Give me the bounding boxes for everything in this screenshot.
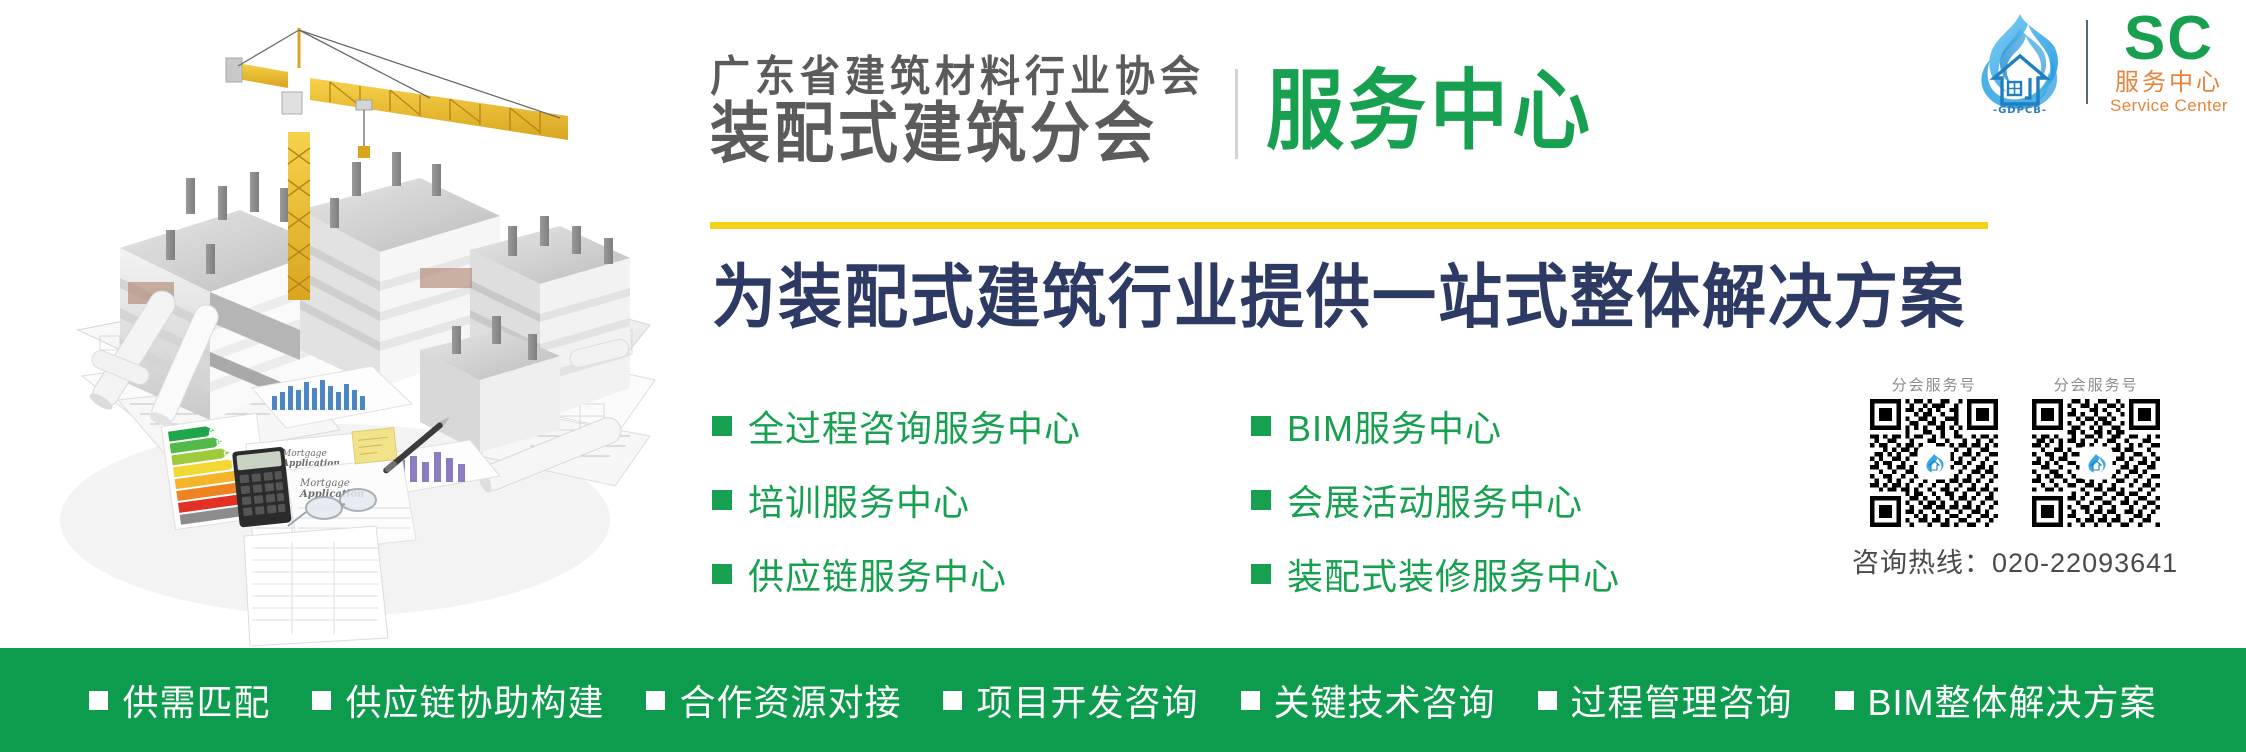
service-item-label: 供应链服务中心 [748,548,1007,600]
svg-text:Mortgage: Mortgage [281,449,327,459]
footer-item-supply-demand-matching[interactable]: 供需匹配 [89,674,270,726]
footer-item-label: 项目开发咨询 [976,674,1198,726]
gdpcb-flame-house-icon: -GDPCB- [1964,8,2076,116]
svg-text:-GDPCB-: -GDPCB- [1993,105,2047,116]
square-bullet-icon [943,691,962,710]
qr-code-image-2[interactable] [2032,399,2160,527]
service-center-lists: 全过程咨询服务中心 培训服务中心 供应链服务中心 BIM服务中心 会展活动服务中… [712,400,1620,600]
square-bullet-icon [712,490,732,510]
qr-contact-area: 分会服务号 [1852,378,2178,580]
sc-english-label: Service Center [2110,97,2228,114]
page-tagline: 为装配式建筑行业提供一站式整体解决方案 [712,256,1966,339]
service-item-label: 装配式装修服务中心 [1287,548,1620,600]
sc-wordmark-block: SC 服务中心 Service Center [2110,10,2228,115]
svg-text:B: B [215,438,221,447]
logo-lockup: -GDPCB- SC 服务中心 Service Center [1964,8,2228,116]
logo-vertical-divider [2086,20,2088,104]
footer-item-label: 过程管理咨询 [1571,674,1793,726]
association-name-lines: 广东省建筑材料行业协会 装配式建筑分会 [710,55,1205,167]
gold-divider-rule [710,222,1988,229]
footer-item-label: 关键技术咨询 [1274,674,1496,726]
footer-item-label: 供应链协助构建 [345,674,604,726]
footer-item-label: 供需匹配 [122,674,270,726]
calculator [232,447,292,528]
service-item-label: BIM服务中心 [1287,400,1502,452]
square-bullet-icon [1251,564,1271,584]
footer-item-project-development-consulting[interactable]: 项目开发咨询 [943,674,1198,726]
header-vertical-divider [1235,69,1238,159]
service-column-left: 全过程咨询服务中心 培训服务中心 供应链服务中心 [712,400,1081,600]
footer-service-bar: 供需匹配 供应链协助构建 合作资源对接 项目开发咨询 关键技术咨询 过程管理咨询… [0,648,2246,752]
footer-item-label: 合作资源对接 [679,674,901,726]
square-bullet-icon [312,691,331,710]
qr-row: 分会服务号 [1870,378,2160,527]
qr-code-image-1[interactable] [1870,399,1998,527]
footer-item-process-management-consulting[interactable]: 过程管理咨询 [1538,674,1793,726]
service-item-supply-chain[interactable]: 供应链服务中心 [712,548,1081,600]
square-bullet-icon [1251,490,1271,510]
service-column-right: BIM服务中心 会展活动服务中心 装配式装修服务中心 [1251,400,1620,600]
association-heading-block: 广东省建筑材料行业协会 装配式建筑分会 服务中心 [710,55,1594,167]
sticky-note [352,428,397,464]
svg-text:Mortgage: Mortgage [299,478,350,489]
construction-illustration: A B C D E F G H [0,0,660,648]
service-item-label: 培训服务中心 [748,474,970,526]
service-item-prefab-decoration[interactable]: 装配式装修服务中心 [1251,548,1620,600]
association-line-1: 广东省建筑材料行业协会 [710,54,1205,101]
qr-caption: 分会服务号 [2054,378,2139,393]
qr-caption: 分会服务号 [1892,378,1977,393]
square-bullet-icon [1835,691,1854,710]
qr-center-logo-icon [2081,448,2111,478]
hotline-text: 咨询热线：020-22093641 [1852,541,2178,580]
qr-center-logo-icon [1919,448,1949,478]
service-item-exhibition-events[interactable]: 会展活动服务中心 [1251,474,1620,526]
footer-item-label: BIM整体解决方案 [1868,674,2157,726]
square-bullet-icon [89,691,108,710]
qr-cell-2: 分会服务号 [2032,378,2160,527]
square-bullet-icon [646,691,665,710]
service-item-training[interactable]: 培训服务中心 [712,474,1081,526]
association-line-2: 装配式建筑分会 [710,99,1205,170]
square-bullet-icon [712,416,732,436]
qr-cell-1: 分会服务号 [1870,378,1998,527]
footer-item-bim-total-solution[interactable]: BIM整体解决方案 [1835,674,2157,726]
banner-root: A B C D E F G H [0,0,2246,752]
footer-item-supply-chain-build[interactable]: 供应链协助构建 [312,674,604,726]
footer-item-key-technology-consulting[interactable]: 关键技术咨询 [1241,674,1496,726]
service-item-full-process-consulting[interactable]: 全过程咨询服务中心 [712,400,1081,452]
footer-item-partner-resource-matching[interactable]: 合作资源对接 [646,674,901,726]
service-center-title: 服务中心 [1266,67,1594,154]
service-item-label: 会展活动服务中心 [1287,474,1583,526]
sc-letters: SC [2124,10,2214,69]
sc-chinese-label: 服务中心 [2115,71,2223,95]
service-item-label: 全过程咨询服务中心 [748,400,1081,452]
service-item-bim[interactable]: BIM服务中心 [1251,400,1620,452]
square-bullet-icon [712,564,732,584]
square-bullet-icon [1241,691,1260,710]
square-bullet-icon [1538,691,1557,710]
square-bullet-icon [1251,416,1271,436]
